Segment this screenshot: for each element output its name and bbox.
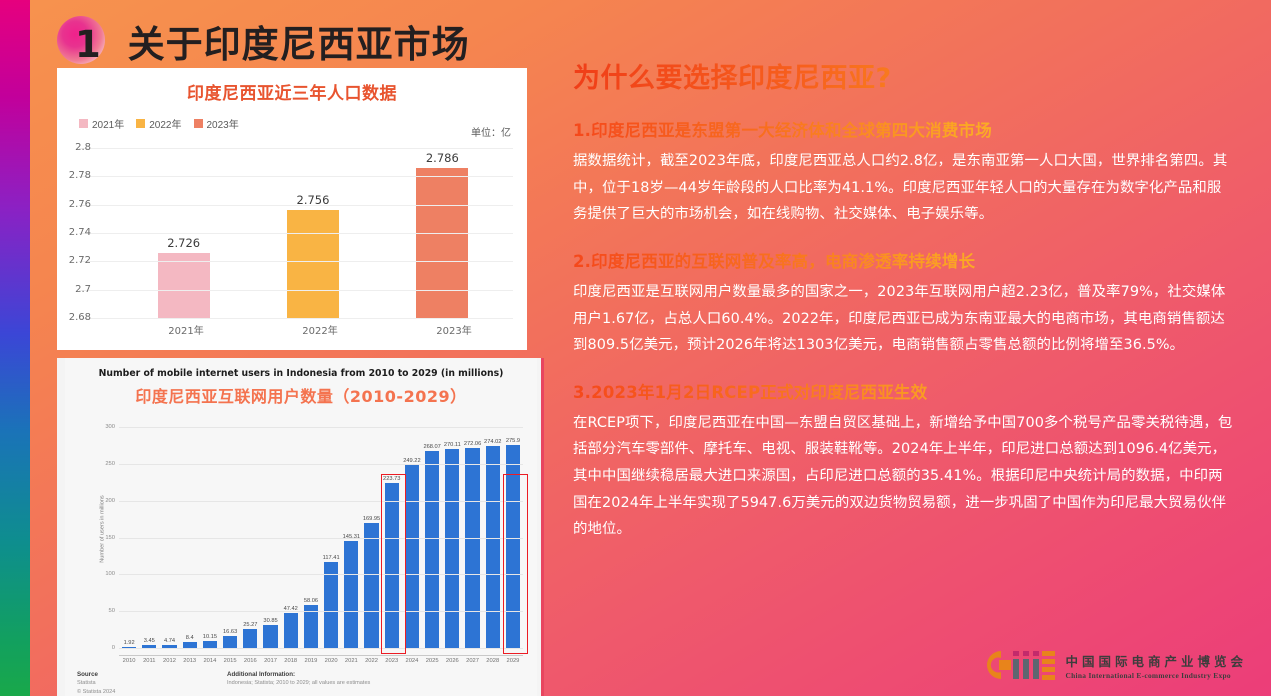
bar-group: 16.63 bbox=[220, 420, 240, 648]
y-tick-label: 2.68 bbox=[57, 312, 91, 323]
gridline bbox=[119, 574, 523, 575]
bar bbox=[465, 448, 479, 648]
bar-group: 268.07 bbox=[422, 420, 442, 648]
page-title: 1 关于印度尼西亚市场 bbox=[75, 14, 470, 68]
gridline bbox=[119, 464, 523, 465]
legend-label: 2023年 bbox=[207, 116, 239, 131]
gridline bbox=[79, 233, 513, 234]
legend-swatch-icon bbox=[79, 119, 88, 128]
x-tick-label: 2016 bbox=[240, 658, 260, 664]
bar-group: 58.06 bbox=[301, 420, 321, 648]
internet-bars: 1.923.454.748.410.1516.6325.2730.8547.42… bbox=[119, 420, 523, 648]
x-tick-label: 2010 bbox=[119, 658, 139, 664]
bar bbox=[445, 449, 459, 648]
population-x-axis: 2021年2022年2023年 bbox=[119, 322, 521, 337]
bar-group: 25.27 bbox=[240, 420, 260, 648]
legend-item: 2021年 bbox=[79, 116, 124, 131]
bar-group: 10.15 bbox=[200, 420, 220, 648]
bar-group: 274.02 bbox=[483, 420, 503, 648]
bar-value-label: 117.41 bbox=[323, 555, 340, 561]
bar bbox=[263, 625, 277, 648]
y-tick-label: 2.78 bbox=[57, 170, 91, 181]
bar bbox=[203, 641, 217, 648]
x-tick-label: 2021年 bbox=[120, 322, 253, 337]
bar-group: 8.4 bbox=[180, 420, 200, 648]
internet-chart-cn-title: 印度尼西亚互联网用户数量（2010-2029） bbox=[75, 383, 527, 407]
bar bbox=[243, 629, 257, 648]
bar-group: 270.11 bbox=[442, 420, 462, 648]
bar bbox=[284, 613, 298, 648]
x-tick-label: 2023年 bbox=[388, 322, 521, 337]
x-tick-label: 2026 bbox=[442, 658, 462, 664]
source-lines: Statista © Statista 2024 bbox=[77, 679, 227, 696]
x-tick-label: 2025 bbox=[422, 658, 442, 664]
gridline bbox=[119, 427, 523, 428]
bar bbox=[364, 523, 378, 648]
bar-value-label: 249.22 bbox=[403, 458, 420, 464]
x-tick-label: 2027 bbox=[462, 658, 482, 664]
population-unit-label: 单位：亿 bbox=[471, 124, 511, 139]
ciee-name-cn: 中国国际电商产业博览会 bbox=[1065, 651, 1247, 670]
x-tick-label: 2020 bbox=[321, 658, 341, 664]
bar-group: 275.9 bbox=[503, 420, 523, 648]
x-tick-label: 2017 bbox=[260, 658, 280, 664]
x-tick-label: 2022 bbox=[361, 658, 381, 664]
legend-item: 2022年 bbox=[136, 116, 181, 131]
gridline bbox=[119, 611, 523, 612]
y-tick-label: 300 bbox=[97, 424, 115, 430]
legend-swatch-icon bbox=[136, 119, 145, 128]
bar-value-label: 2.786 bbox=[426, 151, 459, 165]
legend-item: 2023年 bbox=[194, 116, 239, 131]
internet-chart-inner: Number of mobile internet users in Indon… bbox=[65, 358, 537, 696]
section-spacer bbox=[573, 359, 1233, 379]
bar-value-label: 274.02 bbox=[484, 439, 501, 445]
population-chart-card: 印度尼西亚近三年人口数据 2021年2022年2023年 单位：亿 2.7262… bbox=[57, 68, 527, 350]
slide-title-row: 1 关于印度尼西亚市场 bbox=[57, 14, 544, 70]
bar-group: 272.06 bbox=[462, 420, 482, 648]
internet-chart-footer: Source Statista © Statista 2024 Addition… bbox=[77, 670, 527, 696]
bar-group: 249.22 bbox=[402, 420, 422, 648]
bar bbox=[344, 541, 358, 648]
x-tick-label: 2019 bbox=[301, 658, 321, 664]
internet-plot-area: 1.923.454.748.410.1516.6325.2730.8547.42… bbox=[119, 420, 523, 648]
source-heading: Source bbox=[77, 671, 98, 678]
ciee-logo: 中国国际电商产业博览会 China International E-commer… bbox=[982, 648, 1247, 682]
bar-group: 47.42 bbox=[281, 420, 301, 648]
y-tick-label: 0 bbox=[97, 645, 115, 651]
y-tick-label: 2.7 bbox=[57, 284, 91, 295]
gridline bbox=[79, 176, 513, 177]
bar-group: 117.41 bbox=[321, 420, 341, 648]
gridline bbox=[119, 648, 523, 649]
section-body: 在RCEP项下，印度尼西亚在中国—东盟自贸区基础上，新增给予中国700多个税号产… bbox=[573, 410, 1233, 543]
bar bbox=[416, 168, 468, 318]
x-tick-label: 2015 bbox=[220, 658, 240, 664]
internet-chart-en-title: Number of mobile internet users in Indon… bbox=[75, 368, 527, 379]
internet-x-axis: 2010201120122013201420152016201720182019… bbox=[119, 655, 523, 664]
y-tick-label: 2.72 bbox=[57, 255, 91, 266]
legend-swatch-icon bbox=[194, 119, 203, 128]
population-chart-legend: 2021年2022年2023年 bbox=[57, 104, 527, 131]
bar-group: 3.45 bbox=[139, 420, 159, 648]
x-tick-label: 2013 bbox=[180, 658, 200, 664]
right-column: 为什么要选择印度尼西亚? 1.印度尼西亚是东盟第一大经济体和全球第四大消费市场据… bbox=[573, 56, 1233, 543]
left-column: 1 关于印度尼西亚市场 印度尼西亚近三年人口数据 2021年2022年2023年… bbox=[57, 14, 544, 686]
bar-group: 30.85 bbox=[260, 420, 280, 648]
x-tick-label: 2022年 bbox=[254, 322, 387, 337]
x-tick-label: 2018 bbox=[281, 658, 301, 664]
additional-info-heading: Additional Information: bbox=[227, 671, 295, 678]
x-tick-label: 2011 bbox=[139, 658, 159, 664]
section-spacer bbox=[573, 228, 1233, 248]
population-plot-area: 2.7262.7562.786 2.682.72.722.742.762.782… bbox=[79, 148, 513, 318]
slide-number: 1 bbox=[75, 23, 102, 66]
section-heading: 3.2023年1月2日RCEP正式对印度尼西亚生效 bbox=[573, 379, 1233, 403]
x-tick-label: 2012 bbox=[159, 658, 179, 664]
gridline bbox=[119, 501, 523, 502]
y-tick-label: 2.76 bbox=[57, 199, 91, 210]
bar-group: 1.92 bbox=[119, 420, 139, 648]
bar-value-label: 272.06 bbox=[464, 441, 481, 447]
bar-value-label: 58.06 bbox=[304, 598, 318, 604]
bar-value-label: 25.27 bbox=[243, 622, 257, 628]
legend-label: 2021年 bbox=[92, 116, 124, 131]
internet-chart-header: Number of mobile internet users in Indon… bbox=[65, 358, 537, 407]
bar-value-label: 4.74 bbox=[164, 638, 175, 644]
ciee-logo-text: 中国国际电商产业博览会 China International E-commer… bbox=[1065, 651, 1247, 680]
bar bbox=[158, 253, 210, 318]
gridline bbox=[79, 148, 513, 149]
internet-chart-card: Number of mobile internet users in Indon… bbox=[57, 358, 544, 696]
bar-value-label: 10.15 bbox=[203, 634, 217, 640]
legend-label: 2022年 bbox=[149, 116, 181, 131]
ciee-logo-mark bbox=[982, 648, 1056, 682]
bar bbox=[385, 483, 399, 648]
section-heading: 2.印度尼西亚的互联网普及率高，电商渗透率持续增长 bbox=[573, 248, 1233, 272]
right-heading: 为什么要选择印度尼西亚? bbox=[573, 56, 1233, 95]
bar-group: 145.31 bbox=[341, 420, 361, 648]
bar bbox=[223, 636, 237, 648]
x-tick-label: 2021 bbox=[341, 658, 361, 664]
y-tick-label: 100 bbox=[97, 571, 115, 577]
bar-value-label: 30.85 bbox=[263, 618, 277, 624]
bar bbox=[405, 465, 419, 648]
gridline bbox=[79, 205, 513, 206]
gridline bbox=[119, 538, 523, 539]
y-tick-label: 200 bbox=[97, 498, 115, 504]
ciee-name-en: China International E-commerce Industry … bbox=[1065, 671, 1247, 680]
section-body: 据数据统计，截至2023年底，印度尼西亚总人口约2.8亿，是东南亚第一人口大国，… bbox=[573, 148, 1233, 228]
y-tick-label: 150 bbox=[97, 535, 115, 541]
bar-value-label: 268.07 bbox=[423, 444, 440, 450]
right-sections: 1.印度尼西亚是东盟第一大经济体和全球第四大消费市场据数据统计，截至2023年底… bbox=[573, 117, 1233, 543]
y-tick-label: 2.74 bbox=[57, 227, 91, 238]
bar-value-label: 3.45 bbox=[144, 638, 155, 644]
gridline bbox=[79, 261, 513, 262]
section-heading: 1.印度尼西亚是东盟第一大经济体和全球第四大消费市场 bbox=[573, 117, 1233, 141]
gridline bbox=[79, 318, 513, 319]
y-tick-label: 50 bbox=[97, 608, 115, 614]
bar-value-label: 169.95 bbox=[363, 516, 380, 522]
bar-value-label: 2.726 bbox=[167, 236, 200, 250]
bar-group: 4.74 bbox=[159, 420, 179, 648]
section-body: 印度尼西亚是互联网用户数量最多的国家之一，2023年互联网用户超2.23亿，普及… bbox=[573, 279, 1233, 359]
ciee-logo-icon bbox=[982, 648, 1056, 682]
y-tick-label: 250 bbox=[97, 461, 115, 467]
bar-value-label: 16.63 bbox=[223, 629, 237, 635]
bar bbox=[506, 445, 520, 648]
bar-value-label: 1.92 bbox=[124, 640, 135, 646]
left-color-strip bbox=[0, 0, 30, 696]
internet-y-axis-label: Number of users in millions bbox=[100, 495, 106, 562]
additional-info-lines: Indonesia; Statista; 2010 to 2029; all v… bbox=[227, 679, 370, 687]
bar bbox=[486, 446, 500, 648]
bar-value-label: 275.9 bbox=[506, 438, 520, 444]
bar-value-label: 8.4 bbox=[186, 635, 194, 641]
bar bbox=[425, 451, 439, 648]
slide-title-text: 关于印度尼西亚市场 bbox=[128, 23, 470, 66]
additional-info-block: Additional Information: Indonesia; Stati… bbox=[227, 670, 370, 696]
y-tick-label: 2.8 bbox=[57, 142, 91, 153]
x-tick-label: 2024 bbox=[402, 658, 422, 664]
gridline bbox=[79, 290, 513, 291]
bar-value-label: 223.73 bbox=[383, 476, 400, 482]
x-tick-label: 2014 bbox=[200, 658, 220, 664]
bar-value-label: 270.11 bbox=[444, 442, 461, 448]
x-tick-label: 2023 bbox=[382, 658, 402, 664]
population-chart-title: 印度尼西亚近三年人口数据 bbox=[57, 68, 527, 104]
source-block: Source Statista © Statista 2024 bbox=[77, 670, 227, 696]
bar-group: 223.73 bbox=[382, 420, 402, 648]
bar bbox=[287, 210, 339, 318]
x-tick-label: 2029 bbox=[503, 658, 523, 664]
x-tick-label: 2028 bbox=[483, 658, 503, 664]
bar-group: 169.95 bbox=[361, 420, 381, 648]
